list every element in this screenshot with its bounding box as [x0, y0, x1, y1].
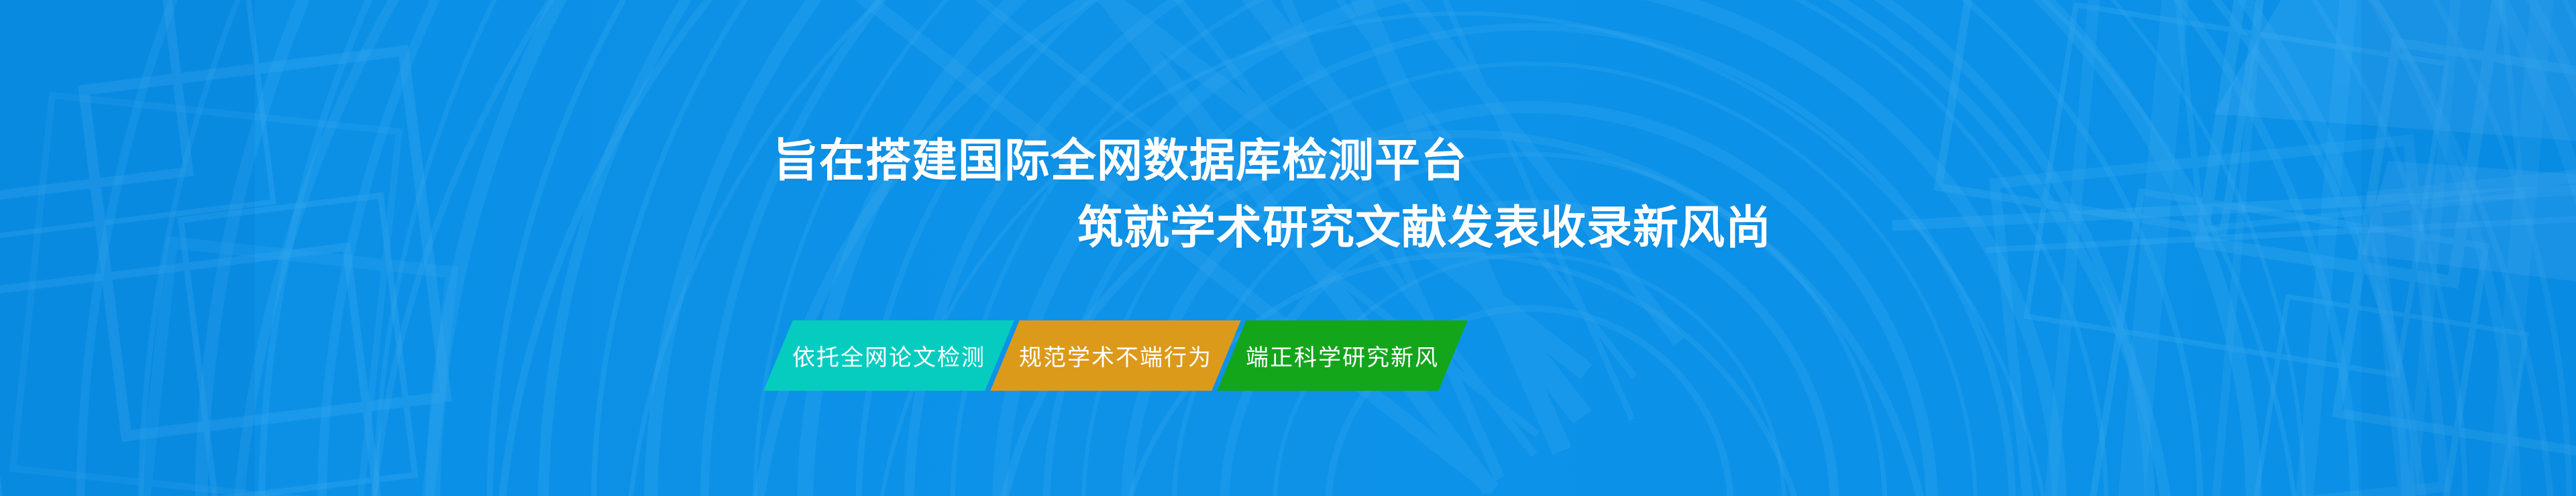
hero-banner: 旨在搭建国际全网数据库检测平台 筑就学术研究文献发表收录新风尚 依托全网论文检测… — [0, 0, 2576, 496]
feature-tag-3[interactable]: 端正科学研究新风 — [1217, 320, 1467, 391]
feature-tag-list: 依托全网论文检测 规范学术不端行为 端正科学研究新风 — [778, 320, 1453, 391]
feature-tag-1-label: 依托全网论文检测 — [792, 339, 985, 372]
feature-tag-3-label: 端正科学研究新风 — [1246, 339, 1439, 372]
feature-tag-2-label: 规范学术不端行为 — [1019, 339, 1212, 372]
background-decoration — [0, 0, 2576, 496]
feature-tag-2[interactable]: 规范学术不端行为 — [990, 320, 1240, 391]
feature-tag-1[interactable]: 依托全网论文检测 — [763, 320, 1014, 391]
